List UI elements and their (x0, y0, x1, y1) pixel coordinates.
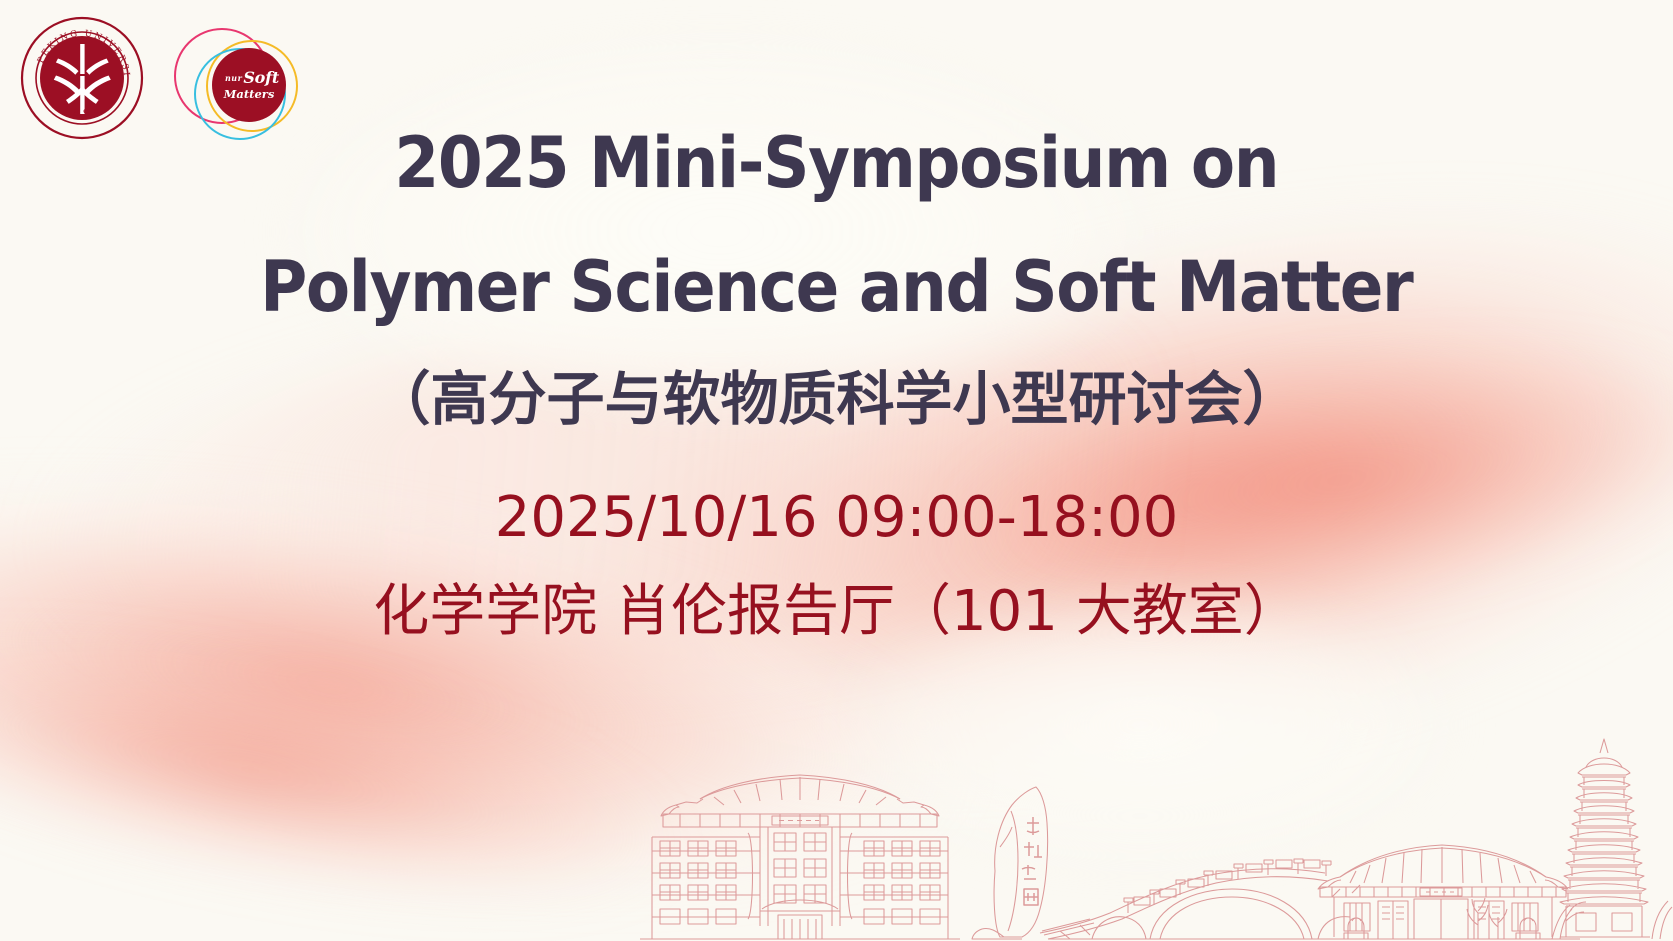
title-chinese: （高分子与软物质科学小型研讨会） (372, 370, 1300, 428)
poster-content: 2025 Mini-Symposium on Polymer Science a… (0, 0, 1673, 941)
event-date-time: 2025/10/16 09:00-18:00 (495, 490, 1179, 546)
title-line-2: Polymer Science and Soft Matter (260, 252, 1412, 322)
event-venue: 化学学院 肖伦报告厅（101 大教室） (373, 584, 1300, 640)
title-line-1: 2025 Mini-Symposium on (395, 128, 1279, 198)
poster-canvas: PEKING UNIVERSITY 1898 nurSoft Matters 2… (0, 0, 1673, 941)
